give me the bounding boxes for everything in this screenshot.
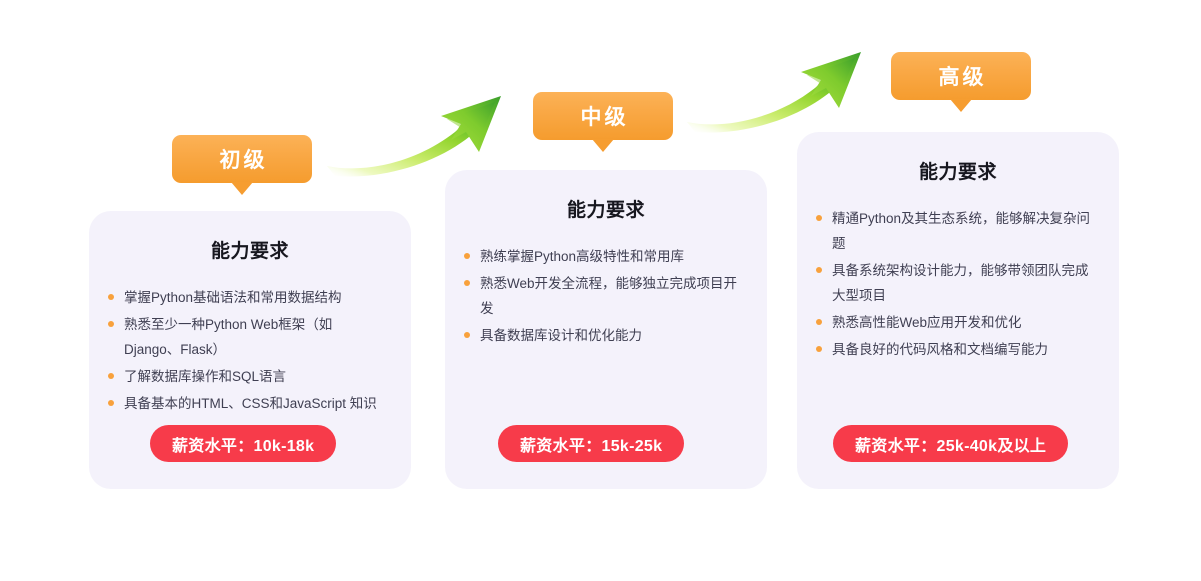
list-item: 熟悉高性能Web应用开发和优化 <box>815 310 1097 335</box>
card-title-junior: 能力要求 <box>89 236 411 263</box>
salary-badge-junior: 薪资水平：10k-18k <box>150 425 336 462</box>
salary-badge-senior: 薪资水平：25k-40k及以上 <box>833 425 1068 462</box>
bullet-dot-icon <box>108 400 114 406</box>
bullet-dot-icon <box>816 319 822 325</box>
list-item-text: 掌握Python基础语法和常用数据结构 <box>124 290 342 305</box>
requirements-list-junior: 掌握Python基础语法和常用数据结构 熟悉至少一种Python Web框架（如… <box>107 285 387 416</box>
bullet-dot-icon <box>108 321 114 327</box>
list-item: 具备基本的HTML、CSS和JavaScript 知识 <box>107 391 387 416</box>
list-item-text: 了解数据库操作和SQL语言 <box>124 369 286 384</box>
level-badge-junior-label: 初级 <box>217 144 268 174</box>
bullet-dot-icon <box>464 280 470 286</box>
list-item: 了解数据库操作和SQL语言 <box>107 364 387 389</box>
card-title-senior: 能力要求 <box>797 157 1119 184</box>
list-item-text: 熟悉高性能Web应用开发和优化 <box>832 315 1022 330</box>
list-item-text: 熟悉至少一种Python Web框架（如Django、Flask） <box>124 317 332 357</box>
bullet-dot-icon <box>816 215 822 221</box>
level-badge-junior: 初级 <box>172 135 312 183</box>
list-item-text: 熟悉Web开发全流程，能够独立完成项目开发 <box>480 276 737 316</box>
list-item-text: 精通Python及其生态系统，能够解决复杂问题 <box>832 211 1090 251</box>
badge-pointer-icon <box>950 99 972 112</box>
list-item: 掌握Python基础语法和常用数据结构 <box>107 285 387 310</box>
bullet-dot-icon <box>816 346 822 352</box>
bullet-dot-icon <box>464 253 470 259</box>
salary-badge-junior-label: 薪资水平：10k-18k <box>172 432 314 456</box>
list-item-text: 熟练掌握Python高级特性和常用库 <box>480 249 684 264</box>
list-item: 熟悉Web开发全流程，能够独立完成项目开发 <box>463 271 743 321</box>
list-item-text: 具备系统架构设计能力，能够带领团队完成大型项目 <box>832 263 1089 303</box>
list-item-text: 具备良好的代码风格和文档编写能力 <box>832 342 1048 357</box>
list-item: 熟悉至少一种Python Web框架（如Django、Flask） <box>107 312 387 362</box>
bullet-dot-icon <box>108 294 114 300</box>
salary-badge-senior-label: 薪资水平：25k-40k及以上 <box>855 432 1046 456</box>
requirements-list-intermediate: 熟练掌握Python高级特性和常用库 熟悉Web开发全流程，能够独立完成项目开发… <box>463 244 743 348</box>
salary-badge-intermediate: 薪资水平：15k-25k <box>498 425 684 462</box>
level-badge-senior-label: 高级 <box>936 61 987 91</box>
list-item-text: 具备基本的HTML、CSS和JavaScript 知识 <box>124 396 377 411</box>
badge-pointer-icon <box>592 139 614 152</box>
infographic-canvas: 初级 能力要求 掌握Python基础语法和常用数据结构 熟悉至少一种Python… <box>0 0 1201 581</box>
level-badge-senior: 高级 <box>891 52 1031 100</box>
list-item: 熟练掌握Python高级特性和常用库 <box>463 244 743 269</box>
list-item-text: 具备数据库设计和优化能力 <box>480 328 642 343</box>
list-item: 具备系统架构设计能力，能够带领团队完成大型项目 <box>815 258 1097 308</box>
growth-arrow-2 <box>685 44 885 144</box>
bullet-dot-icon <box>108 373 114 379</box>
list-item: 精通Python及其生态系统，能够解决复杂问题 <box>815 206 1097 256</box>
bullet-dot-icon <box>816 267 822 273</box>
salary-badge-intermediate-label: 薪资水平：15k-25k <box>520 432 662 456</box>
bullet-dot-icon <box>464 332 470 338</box>
list-item: 具备数据库设计和优化能力 <box>463 323 743 348</box>
badge-pointer-icon <box>231 182 253 195</box>
level-badge-intermediate: 中级 <box>533 92 673 140</box>
list-item: 具备良好的代码风格和文档编写能力 <box>815 337 1097 362</box>
level-badge-intermediate-label: 中级 <box>578 101 629 131</box>
requirements-list-senior: 精通Python及其生态系统，能够解决复杂问题 具备系统架构设计能力，能够带领团… <box>815 206 1097 362</box>
card-title-intermediate: 能力要求 <box>445 195 767 222</box>
